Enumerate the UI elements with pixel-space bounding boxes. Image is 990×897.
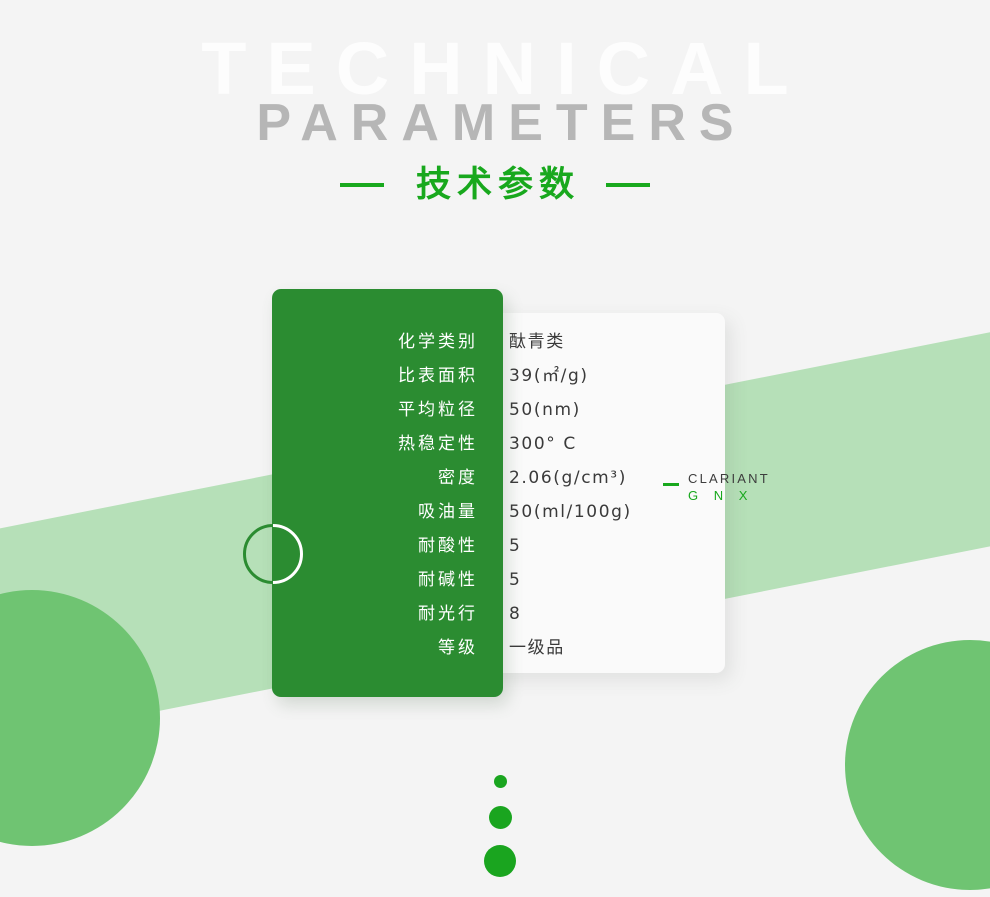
dot-decoration-group [470, 775, 530, 877]
table-row: 耐光行 8 [272, 599, 725, 633]
spec-value: 39(㎡/g) [478, 361, 725, 386]
spec-label: 密度 [272, 463, 478, 488]
brand-text: CLARIANT G N X [688, 471, 770, 505]
spec-value: 一级品 [478, 633, 725, 658]
spec-value: 8 [478, 604, 725, 624]
subtitle-row: 技术参数 [0, 166, 990, 205]
brand-dash-icon [663, 483, 679, 486]
table-row: 吸油量 50(ml/100g) [272, 497, 725, 531]
table-row: 平均粒径 50(nm) [272, 395, 725, 429]
table-row: 比表面积 39(㎡/g) [272, 361, 725, 395]
dot-small-icon [494, 775, 507, 788]
spec-label: 等级 [272, 633, 478, 658]
spec-label: 耐碱性 [272, 565, 478, 590]
spec-label: 吸油量 [272, 497, 478, 522]
brand-name: CLARIANT [688, 471, 770, 486]
dot-large-icon [484, 845, 516, 877]
subtitle-chinese: 技术参数 [410, 166, 580, 205]
spec-value: 酞青类 [478, 327, 725, 352]
spec-table: 化学类别 酞青类 比表面积 39(㎡/g) 平均粒径 50(nm) 热稳定性 3… [272, 327, 725, 667]
table-row: 化学类别 酞青类 [272, 327, 725, 361]
spec-value: 50(ml/100g) [478, 502, 725, 522]
dash-left-icon [340, 183, 384, 187]
table-row: 等级 一级品 [272, 633, 725, 667]
table-row: 耐酸性 5 [272, 531, 725, 565]
spec-value: 5 [478, 536, 725, 556]
spec-label: 化学类别 [272, 327, 478, 352]
spec-label: 耐光行 [272, 599, 478, 624]
table-row: 耐碱性 5 [272, 565, 725, 599]
spec-label: 耐酸性 [272, 531, 478, 556]
spec-value: 50(nm) [478, 400, 725, 420]
page-title: PARAMETERS [0, 97, 990, 149]
brand-mark: CLARIANT G N X [663, 471, 770, 505]
table-row: 密度 2.06(g/cm³) [272, 463, 725, 497]
table-row: 热稳定性 300° C [272, 429, 725, 463]
page-header: TECHNICAL PARAMETERS 技术参数 [0, 0, 990, 230]
spec-value: 300° C [478, 434, 725, 454]
dash-right-icon [606, 183, 650, 187]
circle-decoration-right [845, 640, 990, 890]
spec-value: 5 [478, 570, 725, 590]
spec-label: 比表面积 [272, 361, 478, 386]
spec-label: 平均粒径 [272, 395, 478, 420]
dot-medium-icon [489, 806, 512, 829]
brand-code: G N X [688, 488, 753, 503]
spec-label: 热稳定性 [272, 429, 478, 454]
